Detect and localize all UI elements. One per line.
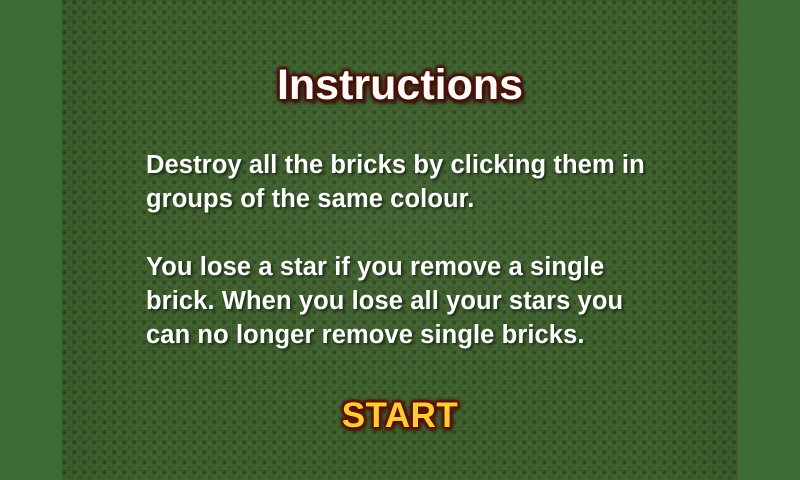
start-button-label: START	[342, 396, 459, 436]
game-screen: Instructions Destroy all the bricks by c…	[0, 0, 800, 480]
start-button[interactable]: START	[0, 396, 800, 436]
instructions-text-block: Destroy all the bricks by clicking them …	[146, 148, 666, 352]
instructions-panel: Instructions Destroy all the bricks by c…	[0, 0, 800, 480]
instructions-paragraph-2: You lose a star if you remove a single b…	[146, 250, 666, 352]
instructions-paragraph-1: Destroy all the bricks by clicking them …	[146, 148, 666, 216]
page-title: Instructions	[0, 60, 800, 110]
